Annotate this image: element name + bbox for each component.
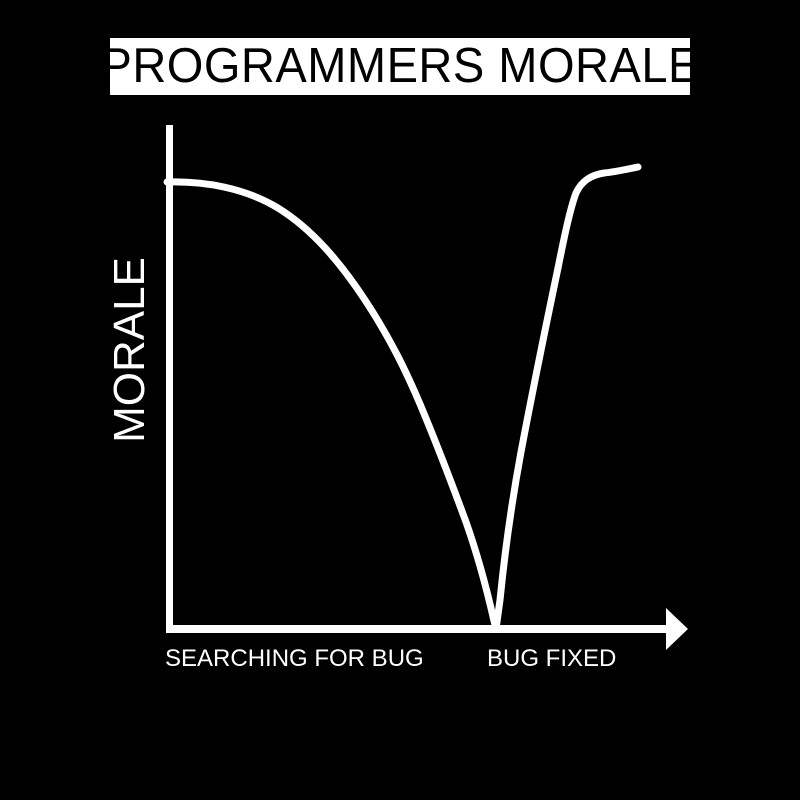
- x-axis-arrow-icon: [666, 608, 688, 650]
- x-tick-label-bug-fixed: BUG FIXED: [487, 647, 616, 671]
- x-axis-line: [166, 625, 674, 633]
- meme-canvas: PROGRAMMERS MORALE MORALE SEARCHING FOR …: [0, 0, 800, 800]
- x-tick-label-searching-for-bug: SEARCHING FOR BUG: [165, 647, 424, 671]
- y-axis-line: [166, 125, 173, 631]
- morale-curve-line: [167, 167, 638, 629]
- y-axis-label: MORALE: [108, 257, 152, 443]
